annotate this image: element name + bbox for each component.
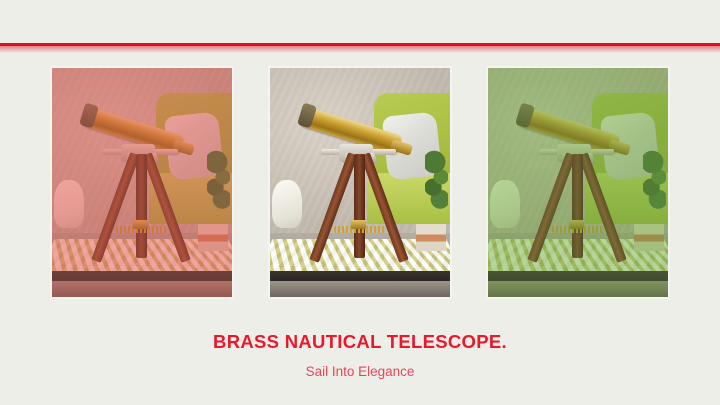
tripod-brass-plate xyxy=(569,220,585,229)
top-divider-glow xyxy=(0,46,720,53)
product-image-gallery xyxy=(0,68,720,297)
tripod-leg-right xyxy=(578,153,627,264)
caption-block: BRASS NAUTICAL TELESCOPE. Sail Into Eleg… xyxy=(0,330,720,381)
telescope-scene xyxy=(52,68,232,297)
under-shelf xyxy=(52,281,232,297)
telescope-scene xyxy=(488,68,668,297)
telescope xyxy=(295,95,425,274)
tripod-leg-center xyxy=(572,154,582,258)
product-image-panel-natural[interactable] xyxy=(270,68,450,297)
product-image-panel-red[interactable] xyxy=(52,68,232,297)
plant xyxy=(425,150,448,210)
telescope xyxy=(77,95,207,274)
tripod-leg-right xyxy=(360,153,409,264)
tripod-leg-right xyxy=(142,153,191,264)
under-shelf xyxy=(488,281,668,297)
tripod-leg-left xyxy=(92,153,141,264)
plant xyxy=(207,150,230,210)
tripod-leg-center xyxy=(136,154,146,258)
product-tagline: Sail Into Elegance xyxy=(0,354,720,381)
tripod-leg-left xyxy=(310,153,359,264)
product-title: BRASS NAUTICAL TELESCOPE. xyxy=(0,330,720,354)
under-shelf xyxy=(270,281,450,297)
tripod-leg-center xyxy=(354,154,364,258)
plant xyxy=(643,150,666,210)
telescope xyxy=(513,95,643,274)
tripod-leg-left xyxy=(528,153,577,264)
tripod-brass-plate xyxy=(351,220,367,229)
tripod-brass-plate xyxy=(133,220,149,229)
product-image-panel-green[interactable] xyxy=(488,68,668,297)
telescope-scene xyxy=(270,68,450,297)
